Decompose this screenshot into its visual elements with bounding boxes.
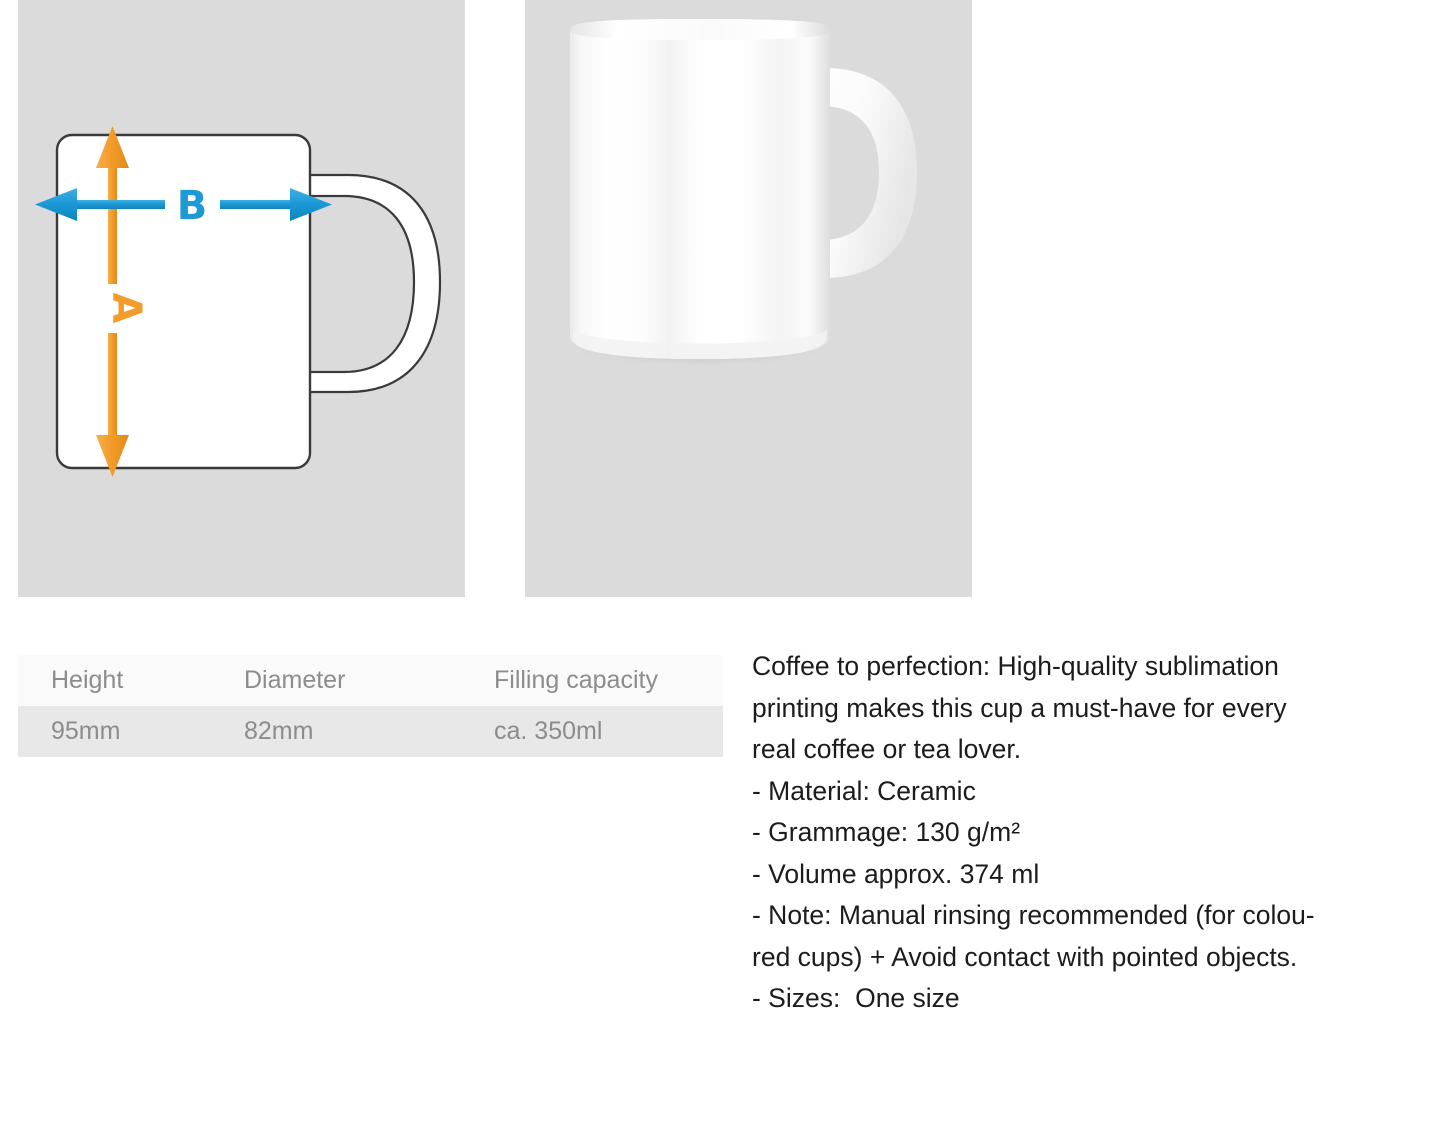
description-line: printing makes this cup a must-have for …: [752, 688, 1412, 730]
column-header-diameter: Diameter: [211, 655, 461, 706]
description-line-volume: - Volume approx. 374 ml: [752, 854, 1412, 896]
column-header-height: Height: [18, 655, 211, 706]
diameter-dimension-label: B: [177, 183, 208, 229]
table-row: 95mm 82mm ca. 350ml: [18, 706, 723, 757]
description-line-grammage: - Grammage: 130 g/m²: [752, 812, 1412, 854]
cell-height: 95mm: [18, 706, 211, 757]
product-image-gallery: A B: [0, 0, 1438, 600]
mug-dimension-diagram: A B: [18, 0, 465, 597]
height-dimension-label: A: [103, 293, 149, 324]
mug-handle-outline: [308, 175, 440, 392]
product-details-section: Height Diameter Filling capacity 95mm 82…: [0, 600, 1438, 1121]
description-line-note-cont: red cups) + Avoid contact with pointed o…: [752, 937, 1412, 979]
description-line-note: - Note: Manual rinsing recommended (for …: [752, 895, 1412, 937]
cell-diameter: 82mm: [211, 706, 461, 757]
description-line: real coffee or tea lover.: [752, 729, 1412, 771]
mug-rim: [570, 19, 830, 40]
product-image-photo[interactable]: [525, 0, 972, 597]
mug-product-photo: [525, 0, 972, 597]
cell-capacity: ca. 350ml: [461, 706, 723, 757]
description-line-material: - Material: Ceramic: [752, 771, 1412, 813]
description-line: Coffee to perfection: High-quality subli…: [752, 646, 1412, 688]
table-header-row: Height Diameter Filling capacity: [18, 655, 723, 706]
product-description: Coffee to perfection: High-quality subli…: [752, 646, 1412, 1020]
specifications-table: Height Diameter Filling capacity 95mm 82…: [18, 655, 723, 757]
product-image-schematic[interactable]: A B: [18, 0, 465, 597]
mug-body: [570, 19, 830, 359]
column-header-capacity: Filling capacity: [461, 655, 723, 706]
description-line-sizes: - Sizes: One size: [752, 978, 1412, 1020]
